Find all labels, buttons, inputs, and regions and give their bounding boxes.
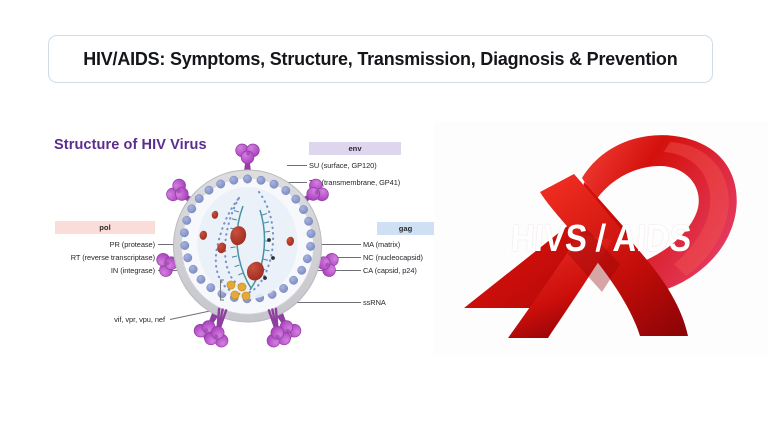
callout-in: IN (integrase) bbox=[35, 266, 155, 275]
title-banner: HIV/AIDS: Symptoms, Structure, Transmiss… bbox=[48, 35, 713, 83]
group-chip-gag: gag bbox=[377, 222, 434, 235]
page-title: HIV/AIDS: Symptoms, Structure, Transmiss… bbox=[83, 48, 677, 70]
callout-ma: MA (matrix) bbox=[363, 240, 400, 249]
group-chip-pol: pol bbox=[55, 221, 155, 234]
callout-ca: CA (capsid, p24) bbox=[363, 266, 417, 275]
callout-ssrna: ssRNA bbox=[363, 298, 386, 307]
hiv-virion-illustration bbox=[155, 140, 340, 352]
hiv-structure-figure: Structure of HIV Virus env SU (surface, … bbox=[0, 122, 434, 355]
red-ribbon-graphic bbox=[434, 122, 768, 355]
callout-nc: NC (nucleocapsid) bbox=[363, 253, 423, 262]
callout-pr: PR (protease) bbox=[35, 240, 155, 249]
aids-ribbon-figure: HIVS / AIDS bbox=[434, 122, 768, 355]
slide-canvas: HIV/AIDS: Symptoms, Structure, Transmiss… bbox=[0, 0, 768, 432]
callout-rt: RT (reverse transcriptase) bbox=[15, 253, 155, 262]
callout-accessory-genes: vif, vpr, vpu, nef bbox=[60, 315, 165, 324]
